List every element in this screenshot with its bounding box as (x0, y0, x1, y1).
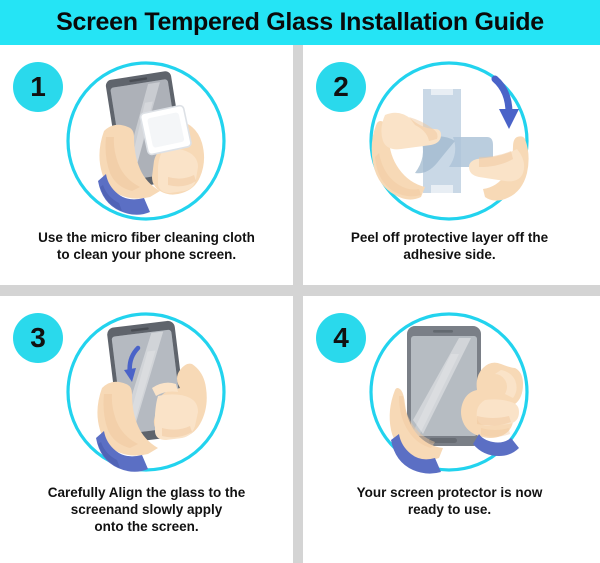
step-panel-3: 3 (0, 296, 293, 563)
hand-holding-phone-thumbs-up-icon (349, 304, 549, 484)
step-number-badge-1: 1 (13, 62, 63, 112)
step-illustration-2 (349, 53, 549, 233)
step-panel-2: 2 (303, 45, 596, 285)
step-panel-4: 4 (303, 296, 596, 563)
hand-wiping-phone-with-cloth-icon (46, 53, 246, 233)
step-number-badge-3: 3 (13, 313, 63, 363)
two-hands-peeling-protective-film-icon (349, 53, 549, 233)
step-number-badge-4: 4 (316, 313, 366, 363)
step-illustration-4 (349, 304, 549, 484)
page-title: Screen Tempered Glass Installation Guide (56, 0, 544, 45)
horizontal-divider (0, 285, 600, 296)
step-caption-2: Peel off protective layer off the adhesi… (311, 229, 588, 263)
steps-grid: 1 (0, 45, 600, 563)
header-banner: Screen Tempered Glass Installation Guide (0, 0, 600, 45)
step-caption-1: Use the micro fiber cleaning cloth to cl… (8, 229, 285, 263)
step-panel-1: 1 (0, 45, 293, 285)
vertical-divider (293, 45, 303, 563)
step-number-badge-2: 2 (316, 62, 366, 112)
step-illustration-3 (46, 304, 246, 484)
step-caption-4: Your screen protector is now ready to us… (311, 484, 588, 518)
hand-aligning-glass-onto-phone-icon (46, 304, 246, 484)
step-caption-3: Carefully Align the glass to the screena… (8, 484, 285, 535)
installation-guide-infographic: Screen Tempered Glass Installation Guide… (0, 0, 600, 563)
step-illustration-1 (46, 53, 246, 233)
